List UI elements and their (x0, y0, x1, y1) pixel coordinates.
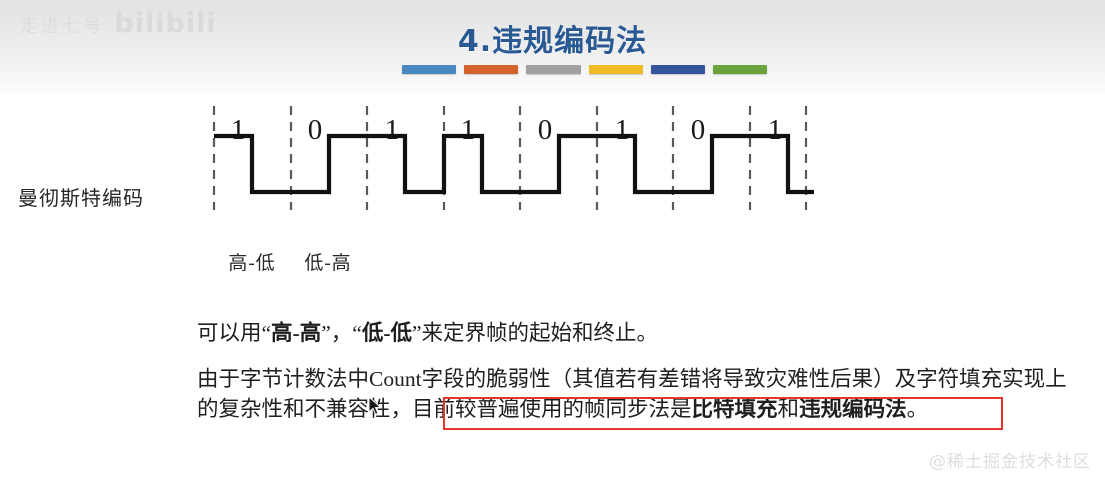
p2-highlighted-lead: 目前较普遍使用的帧同步法是 (412, 397, 692, 421)
paragraph-2: 由于字节计数法中Count字段的脆弱性（其值若有差错将导致灾难性后果）及字符填充… (197, 364, 1087, 424)
title-divider-bars (402, 65, 767, 77)
p1-part-e: ”来定界帧的起始和终止。 (412, 321, 658, 345)
transition-annotations: 高-低 低-高 (200, 248, 500, 278)
p2-part-d: 和 (778, 397, 800, 421)
divider-bar-blue (402, 65, 456, 74)
annotation-low-high: 低-高 (304, 248, 351, 275)
divider-bar-orange (464, 65, 518, 74)
page-title: 4.违规编码法 (0, 16, 1105, 60)
juejin-watermark: @稀土掘金技术社区 (929, 447, 1091, 472)
p2-part-f: 。 (907, 397, 929, 421)
p1-part-c: ”，“ (321, 321, 362, 345)
manchester-diagram: 曼彻斯特编码 1 0 1 1 0 1 0 1 高-低 低-高 (0, 100, 1105, 290)
annotation-high-low: 高-低 (228, 248, 275, 275)
p2-emph-violation-coding: 违规编码法 (799, 397, 907, 421)
divider-bar-navy (651, 65, 705, 74)
p1-emph-high-high: 高-高 (271, 321, 321, 345)
p1-part-a: 可以用“ (197, 321, 271, 345)
signal-trace (214, 136, 814, 192)
divider-bar-gray (526, 65, 580, 74)
bit-cell-guides (214, 106, 806, 210)
diagram-row-label: 曼彻斯特编码 (18, 182, 144, 211)
divider-bar-yellow (589, 65, 643, 74)
p2-emph-bit-stuffing: 比特填充 (692, 397, 778, 421)
p1-emph-low-low: 低-低 (362, 321, 412, 345)
paragraph-1: 可以用“高-高”，“低-低”来定界帧的起始和终止。 (197, 318, 1087, 348)
divider-bar-green (713, 65, 767, 74)
body-text-block: 可以用“高-高”，“低-低”来定界帧的起始和终止。 由于字节计数法中Count字… (197, 318, 1087, 424)
waveform-svg (200, 100, 820, 245)
